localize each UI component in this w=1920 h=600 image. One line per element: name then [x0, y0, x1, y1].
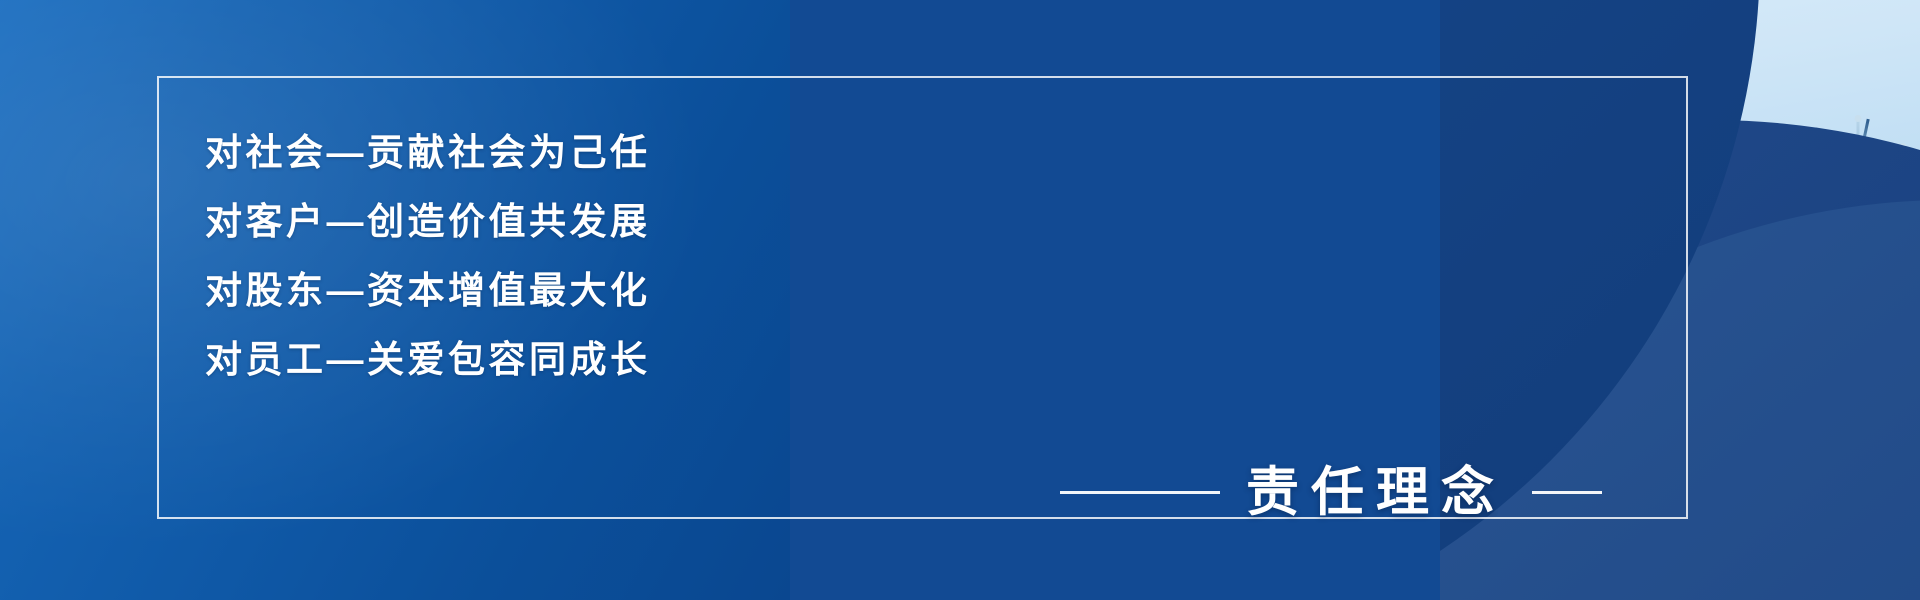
- slogan-employee: 对员工—关爱包容同成长: [205, 325, 665, 394]
- slogan-customer: 对客户—创造价值共发展: [205, 187, 665, 256]
- banner-title-group: 责任理念: [1060, 466, 1602, 519]
- slogan-society: 对社会—贡献社会为己任: [205, 118, 665, 187]
- slogan-list: 对社会—贡献社会为己任 对客户—创造价值共发展 对股东—资本增值最大化 对员工—…: [205, 118, 665, 394]
- title-rule-left: [1060, 491, 1220, 494]
- banner-title: 责任理念: [1246, 466, 1506, 519]
- slogan-shareholder: 对股东—资本增值最大化: [205, 256, 665, 325]
- responsibility-philosophy-banner: 对社会—贡献社会为己任 对客户—创造价值共发展 对股东—资本增值最大化 对员工—…: [0, 0, 1920, 600]
- title-rule-right: [1532, 491, 1602, 494]
